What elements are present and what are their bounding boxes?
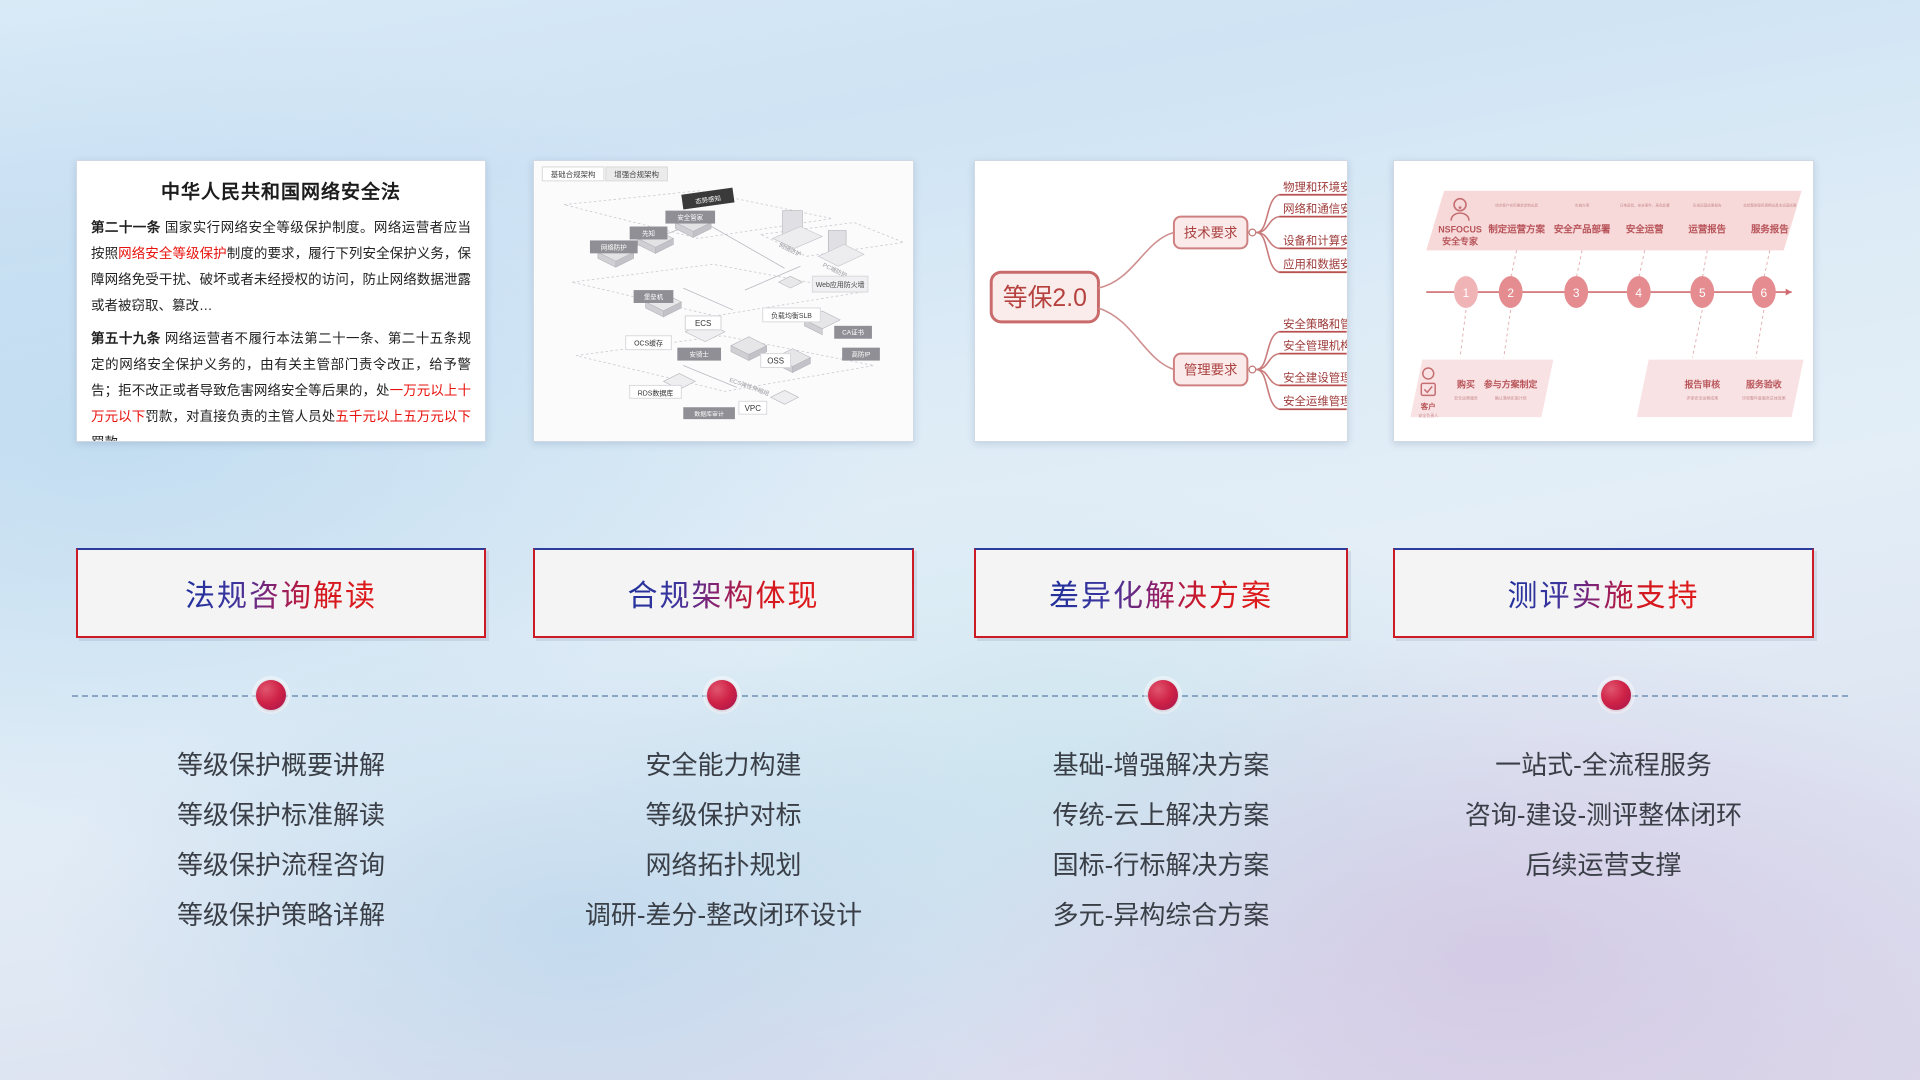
section-title-label: 差异化解决方案 (1049, 571, 1273, 615)
detail-list-3: 基础-增强解决方案 传统-云上解决方案 国标-行标解决方案 多元-异构综合方案 (974, 740, 1348, 940)
vendor-step-caption: 日常巡检、安全事件、高危处置 (1620, 203, 1670, 208)
detail-list-2: 安全能力构建 等级保护对标 网络拓扑规划 调研-差分-整改闭环设计 (533, 740, 914, 940)
node-label: 数据库审计 (694, 410, 724, 418)
law-highlight: 网络安全等级保护 (118, 246, 227, 261)
client-step-caption: 安全运营服务 (1454, 395, 1478, 400)
node-label: ECS (695, 319, 711, 328)
section-title-box-3[interactable]: 差异化解决方案 (974, 548, 1348, 638)
node-label: VPC (745, 404, 762, 413)
mindmap-root[interactable]: 等保2.0 (991, 272, 1098, 322)
vendor-name: NSFOCUS (1438, 224, 1482, 234)
list-item: 等级保护对标 (533, 790, 914, 840)
list-item: 等级保护标准解读 (76, 790, 486, 840)
mindmap-leaf: 安全建设管理 (1283, 370, 1347, 384)
node-label: OCS缓存 (634, 339, 663, 348)
step-number: 1 (1463, 286, 1470, 300)
star-icon: ★ (1457, 205, 1462, 212)
image-card-row: 中华人民共和国网络安全法 第二十一条 国家实行网络安全等级保护制度。网络运营者应… (0, 152, 1920, 442)
law-text: 罚款。 (91, 435, 132, 442)
section-title-box-2[interactable]: 合规架构体现 (533, 548, 914, 638)
node-label: 高防IP (852, 350, 871, 359)
node-label: 先知 (642, 228, 655, 237)
law-article-label-59: 第五十九条 (91, 331, 161, 346)
card-mindmap[interactable]: 等保2.0 技术要求 (974, 160, 1348, 442)
mindmap-branch-label: 技术要求 (1184, 225, 1238, 240)
vendor-step-title: 安全产品部署 (1554, 223, 1611, 234)
step-number: 2 (1507, 286, 1514, 300)
list-item: 传统-云上解决方案 (974, 790, 1348, 840)
step-number: 6 (1761, 286, 1768, 300)
section-title-label: 合规架构体现 (628, 571, 820, 615)
node-label: 安骑士 (690, 350, 710, 359)
mindmap-leaf: 安全运维管理 (1283, 394, 1347, 408)
client-step-title: 购买 (1457, 378, 1475, 389)
vendor-role: 安全专家 (1442, 235, 1478, 246)
list-item: 等级保护策略详解 (76, 890, 486, 940)
list-item: 等级保护流程咨询 (76, 840, 486, 890)
vendor-step-title: 安全运营 (1626, 223, 1664, 234)
detail-list-4: 一站式-全流程服务 咨询-建设-测评整体闭环 后续运营支撑 (1393, 740, 1814, 890)
roadmap-client-banner-right: 报告审核 评审安全运营成果 服务验收 评审整年度服务总体效果 (1637, 360, 1804, 418)
roadmap-vendor-banner: ★ NSFOCUS 安全专家 结合客户实际需求定制出具 实施方案 日常巡检、安全… (1426, 191, 1801, 251)
card-law[interactable]: 中华人民共和国网络安全法 第二十一条 国家实行网络安全等级保护制度。网络运营者应… (76, 160, 486, 442)
list-item: 一站式-全流程服务 (1393, 740, 1814, 790)
mindmap-leaf: 物理和环境安全 (1283, 180, 1347, 194)
detail-columns: 等级保护概要讲解 等级保护标准解读 等级保护流程咨询 等级保护策略详解 安全能力… (0, 740, 1920, 990)
client-step-caption: 评审整年度服务总体效果 (1742, 395, 1786, 400)
node-label: RDS数据库 (638, 388, 674, 397)
client-step-caption: 确认落地实施计划 (1495, 395, 1527, 400)
law-body: 第二十一条 国家实行网络安全等级保护制度。网络运营者应当按照网络安全等级保护制度… (77, 215, 485, 442)
section-title-box-1[interactable]: 法规咨询解读 (76, 548, 486, 638)
law-highlight: 五千元以上五万元以下 (335, 409, 471, 424)
step-number: 4 (1635, 286, 1642, 300)
vendor-step-title: 制定运营方案 (1488, 223, 1545, 234)
timeline-dot-2[interactable] (707, 680, 737, 710)
card-roadmap[interactable]: ★ NSFOCUS 安全专家 结合客户实际需求定制出具 实施方案 日常巡检、安全… (1393, 160, 1814, 442)
law-article-label-21: 第二十一条 (91, 220, 161, 235)
node-label: OSS (767, 357, 784, 366)
vendor-step-title: 运营报告 (1688, 223, 1726, 234)
roadmap-diagram: ★ NSFOCUS 安全专家 结合客户实际需求定制出具 实施方案 日常巡检、安全… (1394, 161, 1813, 441)
list-item: 基础-增强解决方案 (974, 740, 1348, 790)
client-name: 客户 (1420, 401, 1436, 411)
tab-enhanced: 增强合规架构 (614, 169, 659, 179)
list-item: 安全能力构建 (533, 740, 914, 790)
list-item: 调研-差分-整改闭环设计 (533, 890, 914, 940)
mindmap-leaf: 应用和数据安全 (1283, 257, 1347, 271)
mindmap-branch-label: 管理要求 (1184, 362, 1238, 377)
timeline-dot-4[interactable] (1601, 680, 1631, 710)
section-title-row: 法规咨询解读 合规架构体现 差异化解决方案 测评实施支持 (0, 548, 1920, 640)
mindmap-leaf: 安全策略和管理制度 (1283, 317, 1347, 331)
mindmap-root-label: 等保2.0 (1003, 284, 1087, 312)
tab-basic: 基础合规架构 (551, 169, 596, 179)
list-item: 咨询-建设-测评整体闭环 (1393, 790, 1814, 840)
node-label: 负载均衡SLB (771, 311, 812, 320)
timeline-dashed-line (72, 695, 1848, 697)
client-step-caption: 评审安全运营成果 (1686, 395, 1718, 400)
architecture-diagram: 基础合规架构 增强合规架构 (534, 161, 913, 441)
mindmap-leaf: 网络和通信安全 (1283, 202, 1347, 216)
list-item: 网络拓扑规划 (533, 840, 914, 890)
step-number: 5 (1699, 286, 1706, 300)
vendor-step-caption: 实施方案 (1575, 203, 1590, 208)
timeline (0, 672, 1920, 720)
section-title-label: 测评实施支持 (1508, 571, 1700, 615)
slide-canvas: 中华人民共和国网络安全法 第二十一条 国家实行网络安全等级保护制度。网络运营者应… (0, 0, 1920, 1080)
vendor-step-title: 服务报告 (1751, 223, 1789, 234)
vendor-step-caption: 形成运营成果报告 (1693, 203, 1722, 208)
vendor-step-caption: 总结整体服务周期出具本运营成果 (1743, 203, 1797, 208)
law-paragraph-21: 第二十一条 国家实行网络安全等级保护制度。网络运营者应当按照网络安全等级保护制度… (91, 215, 471, 319)
node-label: 网络防护 (601, 242, 627, 251)
card-architecture[interactable]: 基础合规架构 增强合规架构 (533, 160, 914, 442)
list-item: 后续运营支撑 (1393, 840, 1814, 890)
section-title-label: 法规咨询解读 (185, 571, 377, 615)
list-item: 多元-异构综合方案 (974, 890, 1348, 940)
law-text: 罚款，对直接负责的主管人员处 (145, 409, 335, 424)
client-role: 安全负责人 (1418, 413, 1438, 418)
roadmap-client-banner-left: 客户 安全负责人 购买 安全运营服务 参与方案制定 确认落地实施计划 (1410, 360, 1553, 419)
mindmap-diagram: 等保2.0 技术要求 (975, 161, 1347, 441)
node-label: Web应用防火墙 (816, 280, 865, 289)
client-step-title: 服务验收 (1746, 378, 1782, 389)
list-item: 国标-行标解决方案 (974, 840, 1348, 890)
node-label: 堡垒机 (644, 292, 664, 301)
vendor-step-caption: 结合客户实际需求定制出具 (1495, 203, 1538, 208)
mindmap-leaf: 安全管理机构和人员 (1283, 339, 1347, 353)
law-paragraph-59: 第五十九条 网络运营者不履行本法第二十一条、第二十五条规定的网络安全保护义务的，… (91, 326, 471, 442)
section-title-box-4[interactable]: 测评实施支持 (1393, 548, 1814, 638)
list-item: 等级保护概要讲解 (76, 740, 486, 790)
timeline-dot-3[interactable] (1148, 680, 1178, 710)
node-label: 安全管家 (677, 213, 703, 222)
step-number: 3 (1573, 286, 1580, 300)
detail-list-1: 等级保护概要讲解 等级保护标准解读 等级保护流程咨询 等级保护策略详解 (76, 740, 486, 940)
node-label: CA证书 (842, 328, 864, 337)
mindmap-leaf: 设备和计算安全 (1283, 233, 1347, 247)
law-title: 中华人民共和国网络安全法 (77, 177, 485, 204)
client-step-title: 报告审核 (1684, 378, 1720, 389)
timeline-dot-1[interactable] (256, 680, 286, 710)
client-step-title: 参与方案制定 (1484, 378, 1538, 389)
